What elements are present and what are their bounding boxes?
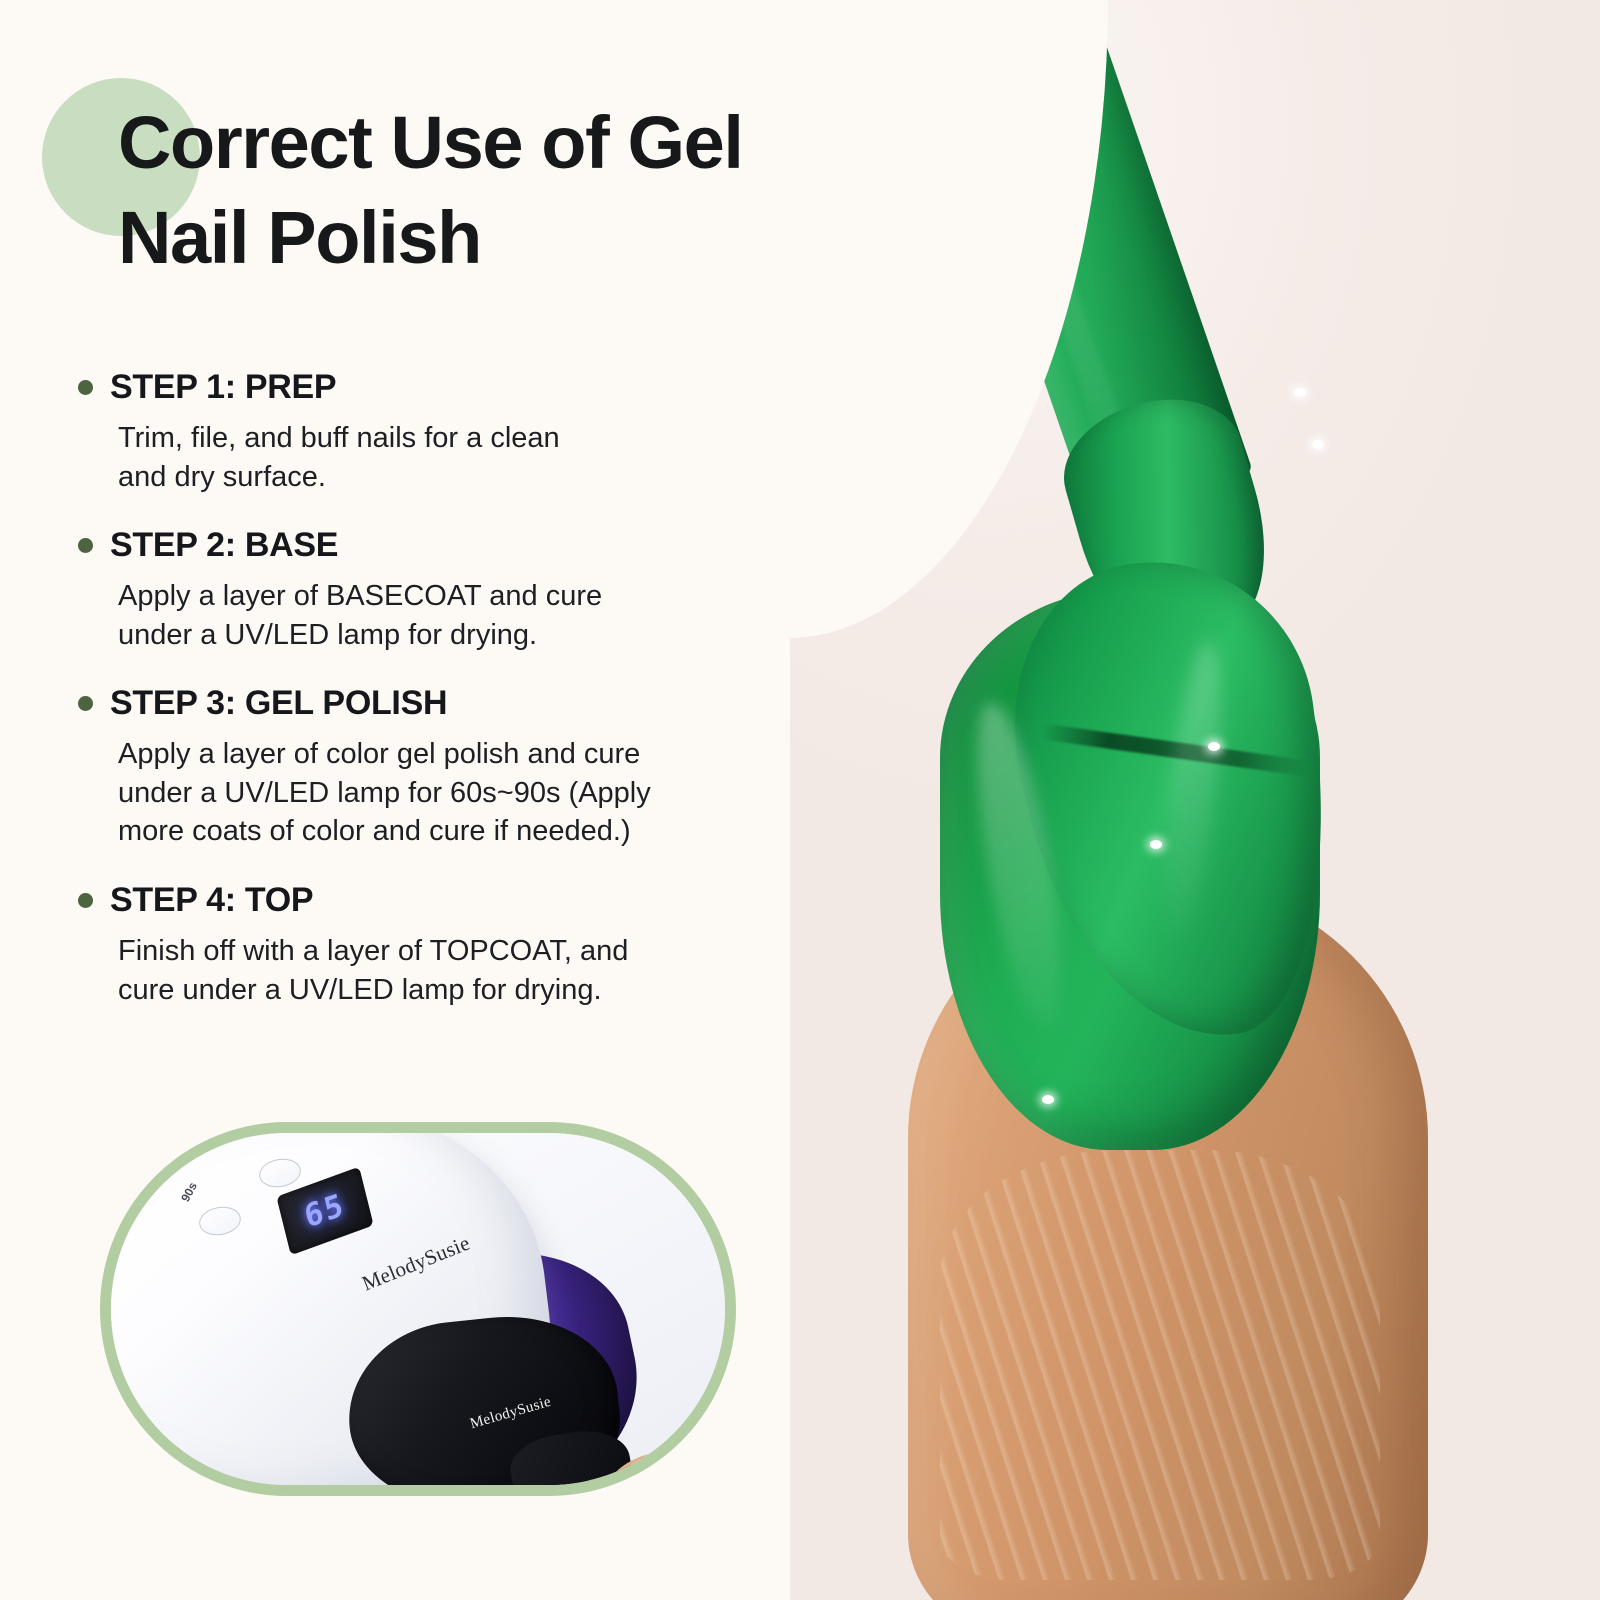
hero-photo [790, 0, 1600, 1600]
finger-skin-texture [940, 1150, 1380, 1580]
step-body: Apply a layer of color gel polish and cu… [118, 735, 768, 851]
step-title: STEP 4: TOP [110, 881, 313, 920]
step-header: STEP 4: TOP [78, 881, 768, 920]
infographic-page: Correct Use of Gel Nail Polish STEP 1: P… [0, 0, 1600, 1600]
bullet-icon [78, 538, 93, 553]
bullet-icon [78, 696, 93, 711]
gloss-sparkle [1150, 840, 1162, 849]
step-item: STEP 3: GEL POLISH Apply a layer of colo… [78, 684, 768, 851]
step-body: Finish off with a layer of TOPCOAT, and … [118, 932, 768, 1009]
bullet-icon [78, 893, 93, 908]
uv-lamp-photo-card: 90s 65 MelodySusie MelodySusie [100, 1122, 736, 1496]
step-body: Apply a layer of BASECOAT and cure under… [118, 577, 768, 654]
gloss-sparkle [1312, 440, 1324, 449]
step-header: STEP 3: GEL POLISH [78, 684, 768, 723]
step-item: STEP 2: BASE Apply a layer of BASECOAT a… [78, 526, 768, 654]
step-header: STEP 1: PREP [78, 368, 768, 407]
step-title: STEP 1: PREP [110, 368, 336, 407]
step-header: STEP 2: BASE [78, 526, 768, 565]
bullet-icon [78, 380, 93, 395]
step-item: STEP 4: TOP Finish off with a layer of T… [78, 881, 768, 1009]
step-title: STEP 2: BASE [110, 526, 338, 565]
gloss-sparkle [1294, 388, 1306, 397]
lamp-timer-value: 65 [301, 1187, 348, 1236]
step-title: STEP 3: GEL POLISH [110, 684, 447, 723]
page-title: Correct Use of Gel Nail Polish [118, 96, 818, 285]
gloss-sparkle [1208, 742, 1220, 751]
step-body: Trim, file, and buff nails for a clean a… [118, 419, 768, 496]
steps-list: STEP 1: PREP Trim, file, and buff nails … [78, 368, 768, 1009]
gloss-sparkle [1042, 1095, 1054, 1104]
step-item: STEP 1: PREP Trim, file, and buff nails … [78, 368, 768, 496]
